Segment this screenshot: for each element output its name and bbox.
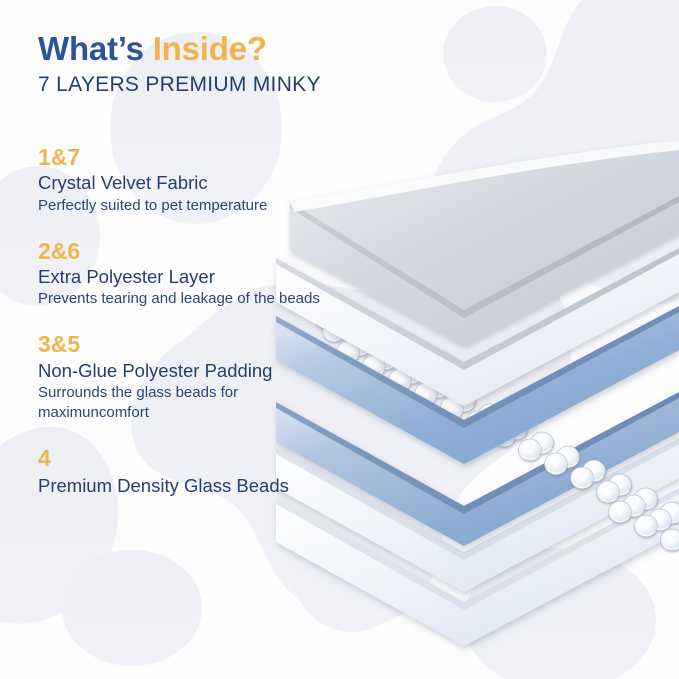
layer-description: Perfectly suited to pet temperature [38, 196, 328, 216]
layer-number: 3&5 [38, 331, 328, 357]
layer-description: Surrounds the glass beads for maximuncom… [38, 383, 328, 423]
seven-layer-stack-illustration [268, 140, 679, 660]
list-item: 2&6 Extra Polyester Layer Prevents teari… [38, 238, 328, 310]
layer-list: 1&7 Crystal Velvet Fabric Perfectly suit… [38, 144, 328, 519]
list-item: 4 Premium Density Glass Beads [38, 445, 328, 498]
list-item: 1&7 Crystal Velvet Fabric Perfectly suit… [38, 144, 328, 216]
infographic-canvas: What’s Inside? 7 LAYERS PREMIUM MINKY 1&… [0, 0, 679, 679]
page-subtitle: 7 LAYERS PREMIUM MINKY [38, 73, 338, 96]
page-title: What’s Inside? [38, 32, 338, 67]
layer-description: Prevents tearing and leakage of the bead… [38, 289, 328, 309]
header-block: What’s Inside? 7 LAYERS PREMIUM MINKY [38, 32, 338, 96]
layer-number: 1&7 [38, 144, 328, 170]
layer-title: Non-Glue Polyester Padding [38, 360, 328, 382]
layer-number: 4 [38, 445, 328, 471]
page-title-part-2: Inside? [153, 30, 267, 67]
layer-title: Extra Polyester Layer [38, 266, 328, 288]
list-item: 3&5 Non-Glue Polyester Padding Surrounds… [38, 331, 328, 423]
layer-title: Premium Density Glass Beads [38, 475, 328, 497]
layer-number: 2&6 [38, 238, 328, 264]
layer-title: Crystal Velvet Fabric [38, 172, 328, 194]
page-title-part-1: What’s [38, 30, 153, 67]
